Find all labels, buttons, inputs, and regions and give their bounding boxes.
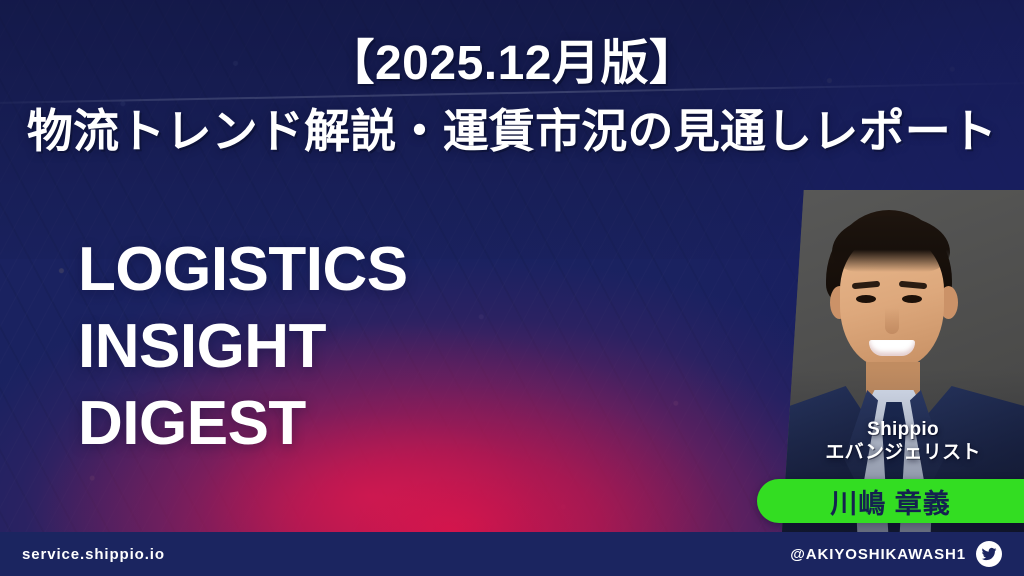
issue-kicker: 【2025.12月版】 xyxy=(0,38,1024,90)
footer-bar: service.shippio.io @AKIYOSHIKAWASH1 xyxy=(0,532,1024,576)
footer-twitter-handle[interactable]: @AKIYOSHIKAWASH1 xyxy=(790,546,966,563)
speaker-name-badge: 川嶋 章義 xyxy=(757,479,1024,523)
footer-site-url[interactable]: service.shippio.io xyxy=(22,546,165,563)
speaker-role: エバンジェリスト xyxy=(782,441,1024,464)
promo-banner: 【2025.12月版】 物流トレンド解説・運賃市況の見通しレポート LOGIST… xyxy=(0,0,1024,576)
wordmark-line-3: DIGEST xyxy=(78,386,408,463)
wordmark-line-1: LOGISTICS xyxy=(78,232,408,309)
headline-block: 【2025.12月版】 物流トレンド解説・運賃市況の見通しレポート xyxy=(0,38,1024,156)
speaker-caption: Shippio エバンジェリスト xyxy=(782,418,1024,464)
speaker-name: 川嶋 章義 xyxy=(830,482,951,521)
wordmark-line-2: INSIGHT xyxy=(78,309,408,386)
twitter-bird-icon[interactable] xyxy=(976,541,1002,567)
speaker-organization: Shippio xyxy=(782,418,1024,441)
report-subtitle: 物流トレンド解説・運賃市況の見通しレポート xyxy=(0,106,1024,157)
wordmark-block: LOGISTICS INSIGHT DIGEST xyxy=(78,232,408,463)
footer-social: @AKIYOSHIKAWASH1 xyxy=(790,541,1002,567)
